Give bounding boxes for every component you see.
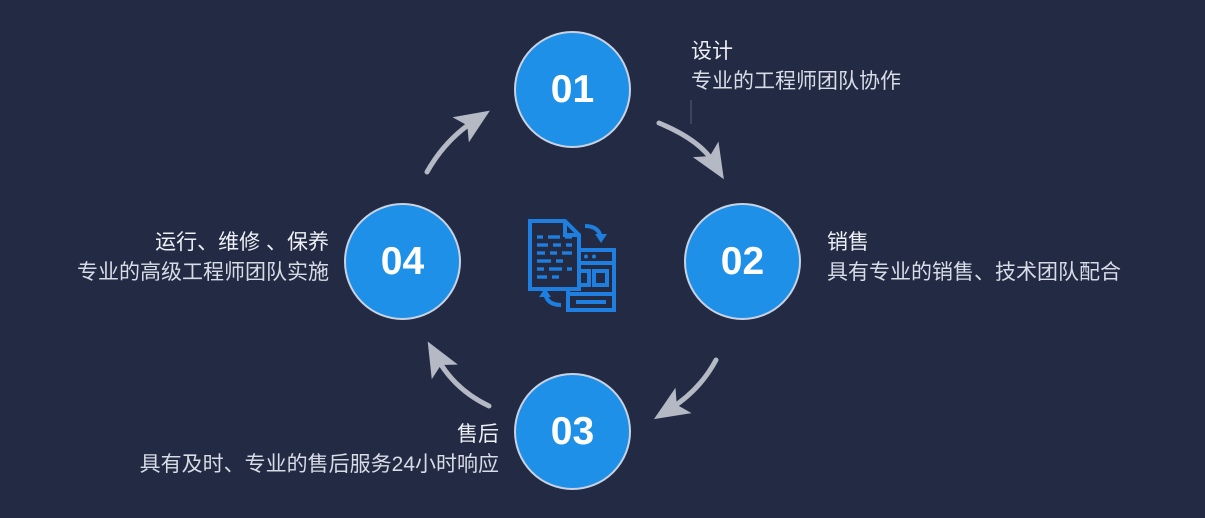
step-desc-01: 专业的工程师团队协作: [691, 67, 901, 97]
step-label-03: 售后 具有及时、专业的售后服务24小时响应: [140, 420, 499, 481]
step-number-04: 04: [381, 242, 424, 281]
document-to-browser-conversion-icon: [521, 213, 626, 318]
arrow-02-to-03: [670, 360, 716, 409]
arrow-03-to-04: [437, 358, 489, 406]
step-label-04: 运行、维修 、保养 专业的高级工程师团队实施: [77, 228, 329, 289]
step-node-04[interactable]: 04: [344, 203, 461, 320]
step-number-03: 03: [551, 412, 594, 451]
step-heading-03: 售后: [140, 420, 499, 450]
step-node-03[interactable]: 03: [514, 373, 631, 490]
step-label-02: 销售 具有专业的销售、技术团队配合: [827, 228, 1121, 289]
step-heading-02: 销售: [827, 228, 1121, 258]
step-number-01: 01: [551, 70, 594, 109]
step-desc-02: 具有专业的销售、技术团队配合: [827, 258, 1121, 288]
step-heading-04: 运行、维修 、保养: [77, 228, 329, 258]
step-desc-03: 具有及时、专业的售后服务24小时响应: [140, 450, 499, 480]
step-heading-01: 设计: [691, 37, 901, 67]
step-node-02[interactable]: 02: [684, 203, 801, 320]
step-label-01: 设计 专业的工程师团队协作: [691, 37, 901, 98]
step-node-01[interactable]: 01: [514, 31, 631, 148]
step-number-02: 02: [721, 242, 764, 281]
process-cycle-diagram: 01 02 03 04 设计 专业的工程师团队协作 销售 具有专业的销售、技术团…: [0, 0, 1205, 518]
arrow-04-to-01: [427, 121, 474, 172]
step-desc-04: 专业的高级工程师团队实施: [77, 258, 329, 288]
arrow-01-to-02: [659, 123, 714, 163]
